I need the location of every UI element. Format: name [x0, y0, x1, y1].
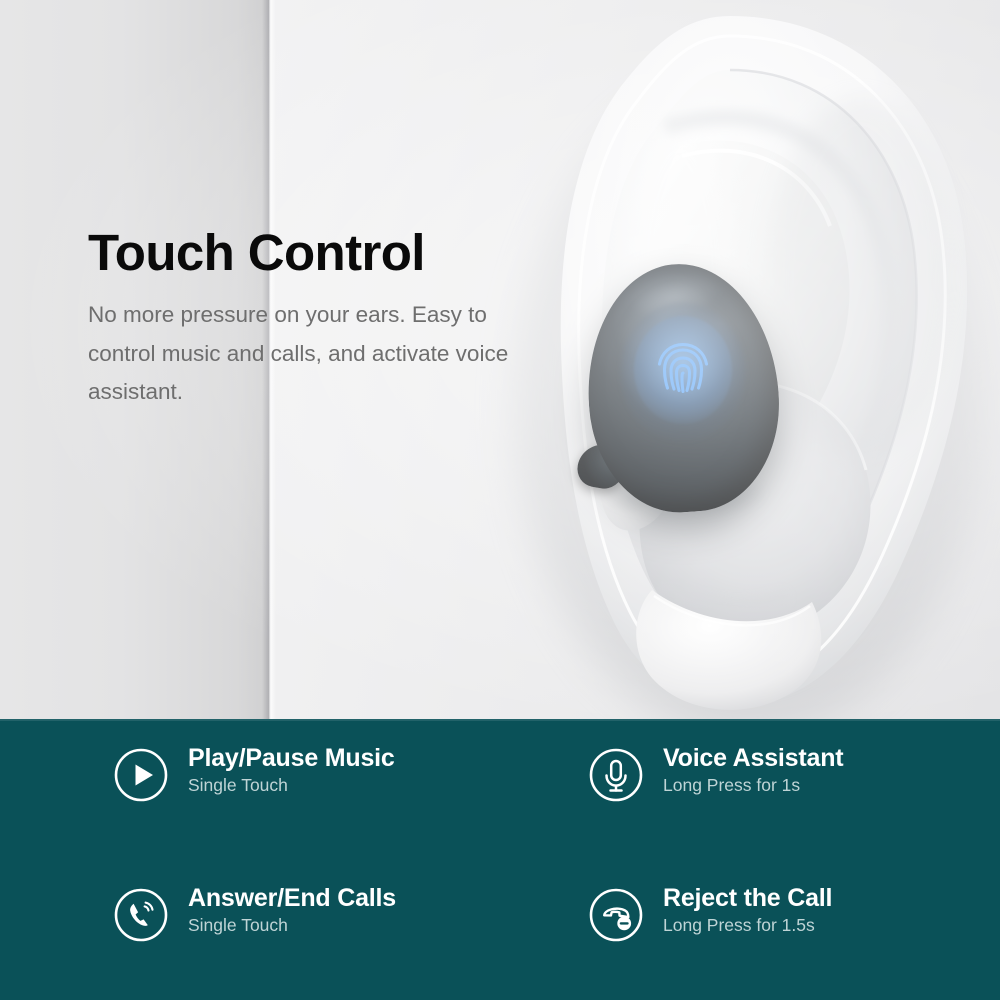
- phone-call-circle-icon: [113, 887, 169, 943]
- feature-title: Answer/End Calls: [188, 884, 396, 912]
- microphone-circle-icon: [588, 747, 644, 803]
- feature-text: Play/Pause Music Single Touch: [188, 743, 395, 796]
- feature-title: Voice Assistant: [663, 744, 843, 772]
- hero-copy: Touch Control No more pressure on your e…: [88, 225, 588, 412]
- feature-subtitle: Single Touch: [188, 915, 396, 936]
- feature-subtitle: Long Press for 1s: [663, 775, 843, 796]
- feature-title: Play/Pause Music: [188, 744, 395, 772]
- feature-grid: Play/Pause Music Single Touch Voice Assi…: [0, 719, 1000, 1000]
- feature-voice-assistant[interactable]: Voice Assistant Long Press for 1s: [588, 743, 1000, 883]
- feature-text: Answer/End Calls Single Touch: [188, 883, 396, 936]
- play-circle-icon: [113, 747, 169, 803]
- feature-reject-the-call[interactable]: Reject the Call Long Press for 1.5s: [588, 883, 1000, 1000]
- feature-answer-end-calls[interactable]: Answer/End Calls Single Touch: [113, 883, 588, 1000]
- product-feature-page: Touch Control No more pressure on your e…: [0, 0, 1000, 1000]
- page-title: Touch Control: [88, 225, 588, 280]
- phone-reject-circle-icon: [588, 887, 644, 943]
- hero-section: Touch Control No more pressure on your e…: [0, 0, 1000, 719]
- hero-description: No more pressure on your ears. Easy to c…: [88, 296, 558, 412]
- feature-text: Reject the Call Long Press for 1.5s: [663, 883, 832, 936]
- touch-controls-panel: Play/Pause Music Single Touch Voice Assi…: [0, 719, 1000, 1000]
- feature-subtitle: Long Press for 1.5s: [663, 915, 832, 936]
- feature-text: Voice Assistant Long Press for 1s: [663, 743, 843, 796]
- feature-subtitle: Single Touch: [188, 775, 395, 796]
- feature-play-pause-music[interactable]: Play/Pause Music Single Touch: [113, 743, 588, 883]
- feature-title: Reject the Call: [663, 884, 832, 912]
